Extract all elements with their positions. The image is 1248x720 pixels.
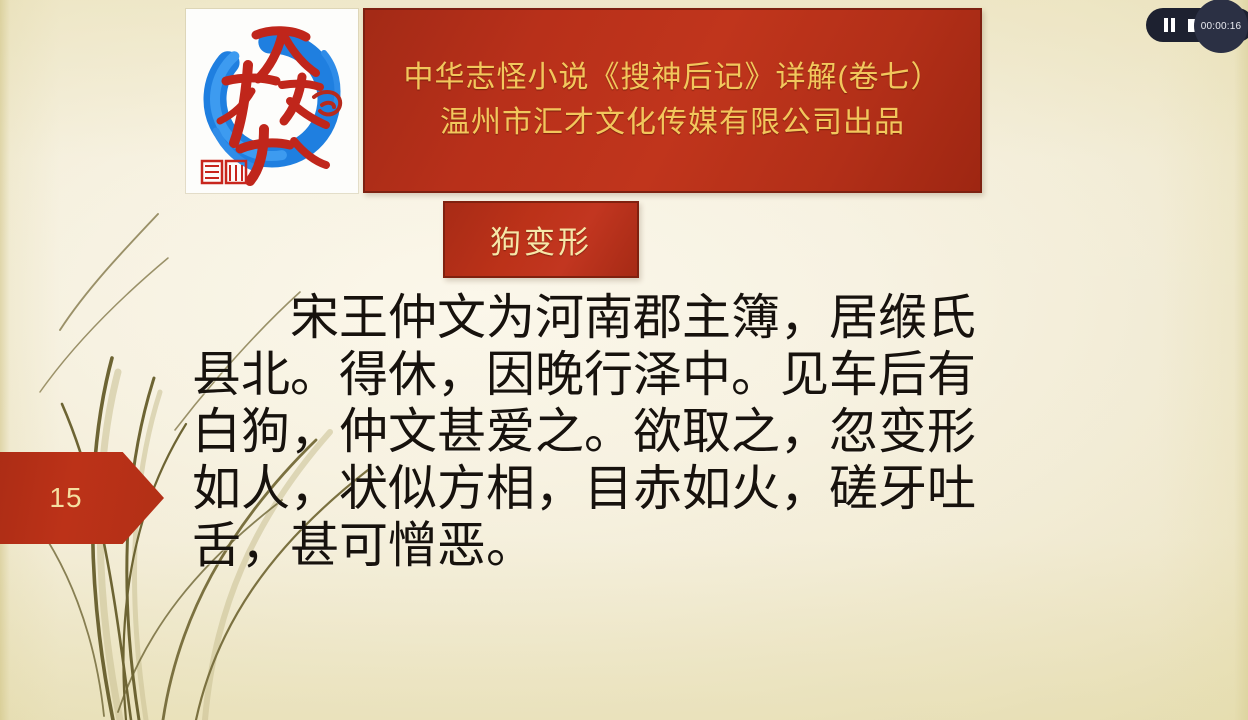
title-line-2: 温州市汇才文化传媒有限公司出品 <box>440 104 905 142</box>
page-number: 15 <box>49 482 82 514</box>
body-line: 如人，状似方相，目赤如火，磋牙吐 <box>192 460 982 517</box>
huicai-culture-logo <box>186 9 358 193</box>
title-banner: 中华志怪小说《搜神后记》详解(卷七） 温州市汇才文化传媒有限公司出品 <box>363 8 982 193</box>
body-line: 宋王仲文为河南郡主簿，居缑氏 <box>192 289 982 346</box>
recording-timer[interactable]: 00:00:16 <box>1194 0 1248 53</box>
slide-body-text: 宋王仲文为河南郡主簿，居缑氏 县北。得休，因晚行泽中。见车后有 白狗，仲文甚爱之… <box>192 289 982 574</box>
page-number-banner: 15 <box>0 452 164 544</box>
title-line-1: 中华志怪小说《搜神后记》详解(卷七） <box>404 59 942 97</box>
section-title-text: 狗变形 <box>490 217 592 262</box>
body-line: 舌，甚可憎恶。 <box>192 517 982 574</box>
presentation-slide: 中华志怪小说《搜神后记》详解(卷七） 温州市汇才文化传媒有限公司出品 狗变形 宋… <box>0 0 1248 720</box>
screen-recorder-toolbar[interactable]: 00:00:16 <box>1192 5 1248 45</box>
body-line: 白狗，仲文甚爱之。欲取之，忽变形 <box>192 403 982 460</box>
pause-icon[interactable] <box>1164 18 1175 32</box>
logo-artwork <box>186 9 358 193</box>
body-line: 县北。得休，因晚行泽中。见车后有 <box>192 346 982 403</box>
section-title-chip: 狗变形 <box>443 201 639 278</box>
